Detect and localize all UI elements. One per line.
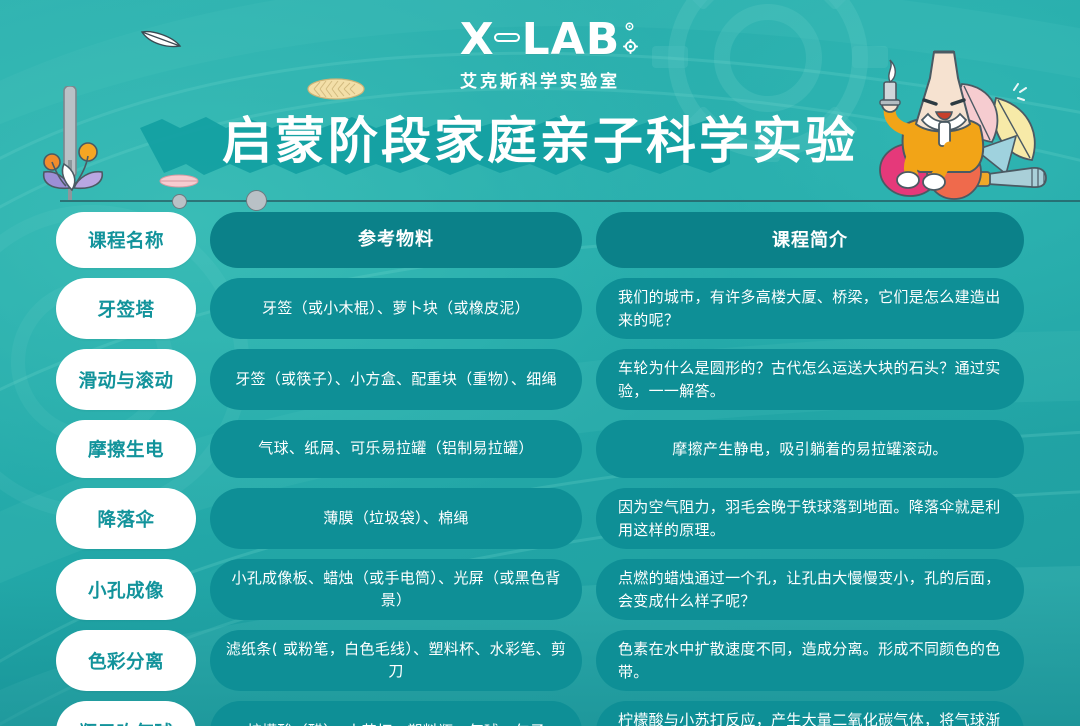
brand-logo: XLAB 艾克斯科学实验室	[0, 18, 1080, 92]
cell-description: 色素在水中扩散速度不同，造成分离。形成不同颜色的色带。	[596, 630, 1024, 691]
table-row[interactable]: 降落伞 薄膜（垃圾袋）、棉绳 因为空气阻力，羽毛会晚于铁球落到地面。降落伞就是利…	[56, 488, 1024, 549]
cell-description: 因为空气阻力，羽毛会晚于铁球落到地面。降落伞就是利用这样的原理。	[596, 488, 1024, 549]
cell-course-name: 小孔成像	[56, 559, 196, 620]
page-title-text: 启蒙阶段家庭亲子科学实验	[206, 108, 874, 175]
header-cell-description: 课程简介	[596, 212, 1024, 268]
logo-dash-icon	[494, 33, 520, 42]
cell-description: 摩擦产生静电，吸引躺着的易拉罐滚动。	[596, 420, 1024, 478]
page-title: 启蒙阶段家庭亲子科学实验	[0, 108, 1080, 175]
table-row[interactable]: 牙签塔 牙签（或小木棍）、萝卜块（或橡皮泥） 我们的城市，有许多高楼大厦、桥梁，…	[56, 278, 1024, 339]
cell-description: 点燃的蜡烛通过一个孔，让孔由大慢慢变小，孔的后面，会变成什么样子呢？	[596, 559, 1024, 620]
cell-course-name: 降落伞	[56, 488, 196, 549]
header-cell-materials: 参考物料	[210, 212, 582, 268]
cell-course-name: 滑动与滚动	[56, 349, 196, 410]
cell-course-name: 瓶子吹气球	[56, 701, 196, 726]
table-row[interactable]: 色彩分离 滤纸条( 或粉笔，白色毛线）、塑料杯、水彩笔、剪刀 色素在水中扩散速度…	[56, 630, 1024, 691]
cell-materials: 滤纸条( 或粉笔，白色毛线）、塑料杯、水彩笔、剪刀	[210, 630, 582, 691]
poster-root: XLAB 艾克斯科学实验室	[0, 0, 1080, 726]
cell-materials: 柠檬酸（醋）、小苏打、塑料瓶、气球、勺子	[210, 701, 582, 726]
cell-materials: 牙签（或筷子）、小方盒、配重块（重物）、细绳	[210, 349, 582, 410]
ground-line	[60, 200, 1080, 202]
table-row[interactable]: 滑动与滚动 牙签（或筷子）、小方盒、配重块（重物）、细绳 车轮为什么是圆形的？古…	[56, 349, 1024, 410]
course-table: 课程名称 参考物料 课程简介 牙签塔 牙签（或小木棍）、萝卜块（或橡皮泥） 我们…	[0, 212, 1080, 726]
poster-header: XLAB 艾克斯科学实验室	[0, 0, 1080, 212]
gear-icon-large	[622, 38, 639, 55]
brand-subtitle: 艾克斯科学实验室	[0, 67, 1080, 92]
cell-course-name: 色彩分离	[56, 630, 196, 691]
cell-materials: 小孔成像板、蜡烛（或手电筒）、光屏（或黑色背景）	[210, 559, 582, 620]
ball-icon-large	[246, 190, 267, 211]
header-cell-name: 课程名称	[56, 212, 196, 268]
cell-description: 车轮为什么是圆形的？古代怎么运送大块的石头？通过实验，一一解答。	[596, 349, 1024, 410]
cell-course-name: 摩擦生电	[56, 420, 196, 478]
logo-letter-x: X	[460, 14, 492, 65]
table-header-row: 课程名称 参考物料 课程简介	[56, 212, 1024, 268]
cell-course-name: 牙签塔	[56, 278, 196, 339]
ball-icon-small	[172, 194, 187, 209]
cell-materials: 薄膜（垃圾袋）、棉绳	[210, 488, 582, 549]
cell-materials: 气球、纸屑、可乐易拉罐（铝制易拉罐）	[210, 420, 582, 478]
cell-description: 柠檬酸与小苏打反应，产生大量二氧化碳气体，将气球渐渐“吹”大。	[596, 701, 1024, 726]
logo-letters-lab: LAB	[522, 14, 621, 65]
gear-icon	[623, 20, 636, 33]
table-row[interactable]: 小孔成像 小孔成像板、蜡烛（或手电筒）、光屏（或黑色背景） 点燃的蜡烛通过一个孔…	[56, 559, 1024, 620]
table-row[interactable]: 摩擦生电 气球、纸屑、可乐易拉罐（铝制易拉罐） 摩擦产生静电，吸引躺着的易拉罐滚…	[56, 420, 1024, 478]
cell-description: 我们的城市，有许多高楼大厦、桥梁，它们是怎么建造出来的呢？	[596, 278, 1024, 339]
cell-materials: 牙签（或小木棍）、萝卜块（或橡皮泥）	[210, 278, 582, 339]
logo-wordmark: XLAB	[460, 18, 621, 62]
table-row[interactable]: 瓶子吹气球 柠檬酸（醋）、小苏打、塑料瓶、气球、勺子 柠檬酸与小苏打反应，产生大…	[56, 701, 1024, 726]
